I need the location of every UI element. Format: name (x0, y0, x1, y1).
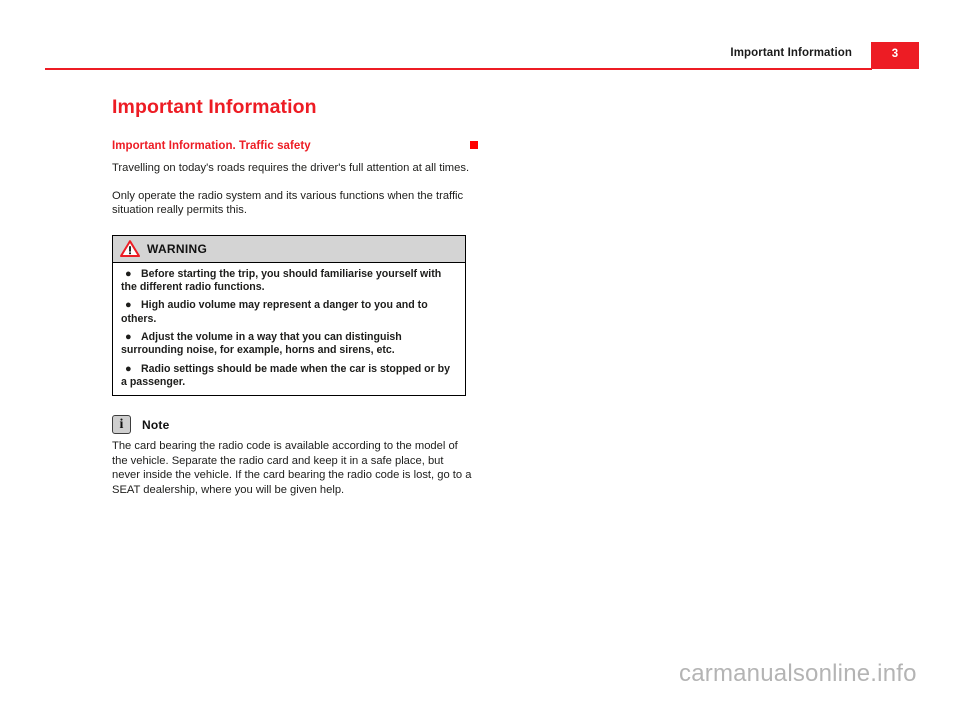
warning-triangle-icon (120, 240, 140, 257)
note-text: The card bearing the radio code is avail… (112, 439, 472, 497)
warning-item-text: Radio settings should be made when the c… (121, 363, 450, 388)
note-header: i Note (112, 415, 472, 434)
warning-callout: WARNING ●Before starting the trip, you s… (112, 235, 466, 396)
warning-body: ●Before starting the trip, you should fa… (113, 263, 465, 395)
page-content: Important Information Important Informat… (112, 96, 472, 498)
page-number: 3 (871, 48, 919, 60)
intro-paragraph-2: Only operate the radio system and its va… (112, 189, 472, 218)
header-title: Important Information (730, 47, 852, 59)
warning-item: ●Adjust the volume in a way that you can… (121, 331, 457, 358)
bullet-glyph: ● (121, 331, 141, 344)
header-divider-rule (45, 68, 872, 70)
warning-item: ●Radio settings should be made when the … (121, 363, 457, 390)
warning-item: ●High audio volume may represent a dange… (121, 299, 457, 326)
intro-paragraph-1: Travelling on today's roads requires the… (112, 161, 472, 176)
section-heading: Important Information. Traffic safety (112, 140, 472, 152)
bullet-glyph: ● (121, 299, 141, 312)
warning-item-text: Adjust the volume in a way that you can … (121, 331, 402, 356)
warning-header: WARNING (113, 236, 465, 263)
warning-item: ●Before starting the trip, you should fa… (121, 268, 457, 295)
bullet-glyph: ● (121, 268, 141, 281)
note-label: Note (142, 418, 169, 432)
bullet-glyph: ● (121, 363, 141, 376)
page-header: Important Information 3 (0, 42, 960, 72)
section-end-marker (470, 141, 478, 149)
page-number-badge: 3 (871, 42, 919, 69)
watermark: carmanualsonline.info (679, 660, 917, 688)
warning-label: WARNING (147, 242, 207, 256)
warning-item-text: Before starting the trip, you should fam… (121, 268, 441, 293)
info-icon-glyph: i (120, 418, 124, 432)
page-title: Important Information (112, 96, 472, 119)
info-icon: i (112, 415, 131, 434)
note-callout: i Note The card bearing the radio code i… (112, 415, 472, 497)
warning-item-text: High audio volume may represent a danger… (121, 299, 428, 324)
